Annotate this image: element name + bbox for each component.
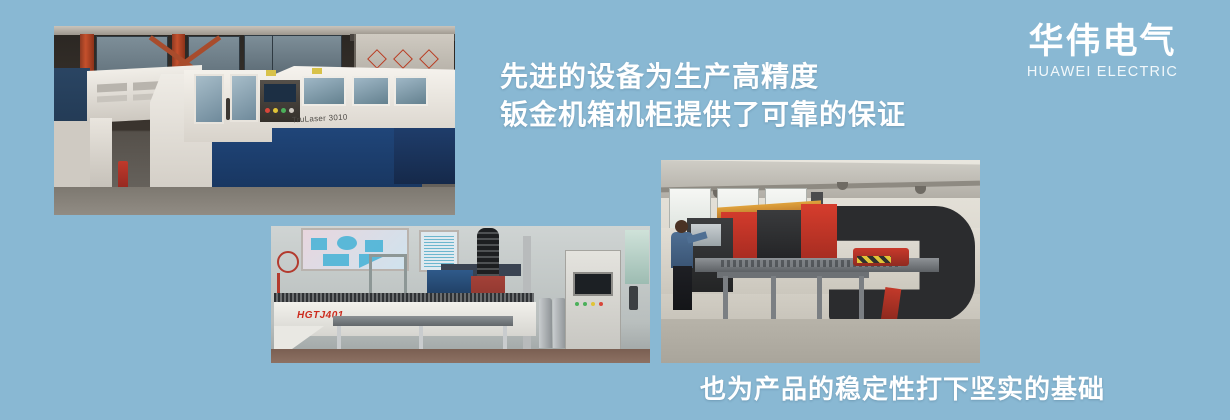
- photo-laser-cutting-machine: TruLaser 3010: [54, 26, 455, 215]
- machine-dark-section: [757, 210, 805, 262]
- logo-chinese-name: 华伟电气: [1015, 22, 1190, 62]
- photo-hgtj-laser-machine: HGTJ401: [271, 226, 650, 363]
- operator-head: [675, 220, 688, 233]
- operator-legs: [673, 266, 692, 310]
- door-diamond-marking: [419, 49, 439, 69]
- factory-floor: [54, 187, 455, 215]
- headline-line-2: 钣金机箱机柜提供了可靠的保证: [500, 96, 906, 134]
- logo-english-name: HUAWEI ELECTRIC: [1015, 63, 1190, 81]
- poster-graphic: [337, 236, 357, 250]
- notice-text-lines: [424, 236, 454, 267]
- warning-sticker: [312, 68, 322, 74]
- enclosure-window: [394, 76, 428, 106]
- hazard-stripe-marking: [857, 256, 891, 263]
- banner-tagline: 也为产品的稳定性打下坚实的基础: [700, 374, 1105, 404]
- enclosure-window: [352, 76, 390, 106]
- door-diamond-marking: [367, 49, 387, 69]
- cabin-window: [230, 74, 258, 122]
- cover-slot: [97, 95, 127, 103]
- control-button-grey: [289, 108, 294, 113]
- machine-base-rear: [394, 122, 455, 184]
- warning-sticker: [266, 70, 276, 76]
- cabinet-button-red: [599, 302, 603, 306]
- roller-table-top: [717, 272, 869, 278]
- pendant-controller: [629, 286, 638, 310]
- workshop-window: [625, 230, 649, 284]
- headline-line-1: 先进的设备为生产高精度: [500, 58, 906, 96]
- workshop-floor: [271, 349, 650, 363]
- door-handle: [226, 98, 230, 120]
- gas-cylinder: [539, 298, 552, 348]
- cabinet-button-green: [583, 302, 587, 306]
- photo-cnc-punch-press: [661, 160, 980, 363]
- cabinet-button-green: [575, 302, 579, 306]
- door-diamond-marking: [393, 49, 413, 69]
- machine-support-leg: [90, 118, 112, 194]
- control-button-yellow: [273, 108, 278, 113]
- company-logo: 华伟电气 HUAWEI ELECTRIC: [1015, 22, 1190, 81]
- control-screen: [264, 84, 296, 102]
- control-button-green: [281, 108, 286, 113]
- poster-graphic: [323, 254, 349, 266]
- cover-slot: [97, 83, 127, 93]
- cabin-window: [194, 74, 224, 124]
- enclosure-window: [302, 76, 346, 106]
- work-table-top: [333, 316, 513, 326]
- pressure-gauge: [277, 251, 299, 273]
- control-button-red: [265, 108, 270, 113]
- hall-floor: [661, 319, 980, 363]
- poster-graphic: [365, 240, 383, 252]
- poster-graphic: [311, 238, 327, 250]
- cabinet-display: [573, 272, 613, 296]
- banner-headline: 先进的设备为生产高精度 钣金机箱机柜提供了可靠的保证: [500, 58, 906, 134]
- promo-banner: TruLaser 3010 HGTJ401: [0, 0, 1230, 420]
- side-cabinet-panel: [54, 121, 92, 191]
- cabinet-button-yellow: [591, 302, 595, 306]
